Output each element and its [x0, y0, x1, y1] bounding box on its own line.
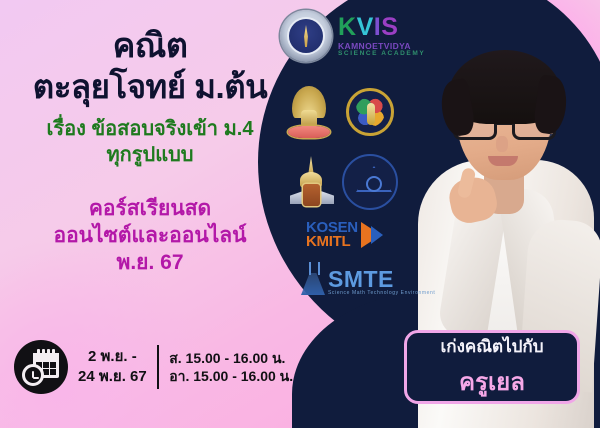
- schedule-row: 2 พ.ย. - 24 พ.ย. 67 ส. 15.00 - 16.00 น. …: [14, 340, 293, 394]
- teacher-badge: เก่งคณิตไปกับ ครูเยล: [404, 330, 580, 404]
- date-line-2: 24 พ.ย. 67: [78, 367, 147, 387]
- time-line-1: ส. 15.00 - 16.00 น.: [169, 349, 293, 367]
- badge-tagline: เก่งคณิตไปกับ: [440, 333, 543, 360]
- hair-side-right: [532, 74, 570, 136]
- headline-line-2: ตะลุยโจทย์ ม.ต้น: [0, 65, 300, 105]
- kvis-letter-s: S: [381, 13, 398, 41]
- nose: [496, 136, 508, 152]
- crest-wing-right: [318, 190, 334, 204]
- kosen-line-2: KMITL: [306, 235, 358, 249]
- time-line-2: อา. 15.00 - 16.00 น.: [169, 367, 293, 385]
- smte-text: SMTE: [328, 269, 435, 290]
- date-range: 2 พ.ย. - 24 พ.ย. 67: [78, 347, 147, 387]
- course-line-1: คอร์สเรียนสด: [0, 195, 300, 222]
- clock-icon: [22, 364, 44, 386]
- kvis-wordmark: KVIS KAMNOETVIDYA SCIENCE ACADEMY: [338, 15, 425, 58]
- badge-teacher-name: ครูเยล: [459, 362, 525, 401]
- subject-line-1: เรื่อง ข้อสอบจริงเข้า ม.4: [0, 117, 300, 143]
- partner-logos: KVIS KAMNOETVIDYA SCIENCE ACADEMY KOSEN …: [280, 6, 460, 306]
- flask-icon: [300, 262, 326, 296]
- promo-poster: KVIS KAMNOETVIDYA SCIENCE ACADEMY KOSEN …: [0, 0, 600, 428]
- smte-subtitle: Science Math Technology Environment: [328, 290, 435, 296]
- schedule-divider: [157, 345, 160, 389]
- kvis-letter-v: V: [357, 13, 374, 41]
- headline-line-1: คณิต: [0, 0, 300, 65]
- triangle-shield-emblem-icon: [342, 154, 398, 210]
- date-line-1: 2 พ.ย. -: [78, 347, 147, 367]
- smte-logo: SMTE Science Math Technology Environment: [300, 262, 435, 296]
- kosen-wordmark: KOSEN KMITL: [306, 221, 358, 250]
- smte-wordmark: SMTE Science Math Technology Environment: [328, 269, 435, 296]
- crest-pedestal: [303, 184, 320, 206]
- kosen-kmitl-logo: KOSEN KMITL: [306, 221, 383, 250]
- kvis-letters: KVIS: [338, 15, 425, 40]
- kosen-arrow-inner-icon: [371, 226, 383, 244]
- colorful-circle-emblem-icon: [346, 88, 394, 136]
- course-line-3: พ.ย. 67: [0, 249, 300, 276]
- kvis-subtitle: KAMNOETVIDYA: [338, 42, 425, 51]
- time-slots: ส. 15.00 - 16.00 น. อา. 15.00 - 16.00 น.: [169, 349, 293, 386]
- course-text: คอร์สเรียนสด ออนไซต์และออนไลน์ พ.ย. 67: [0, 169, 300, 277]
- subject-line-2: ทุกรูปแบบ: [0, 143, 300, 169]
- calendar-clock-icon: [14, 340, 68, 394]
- kvis-logo: KVIS KAMNOETVIDYA SCIENCE ACADEMY: [280, 10, 425, 62]
- kvis-subtitle-2: SCIENCE ACADEMY: [338, 51, 425, 58]
- main-headline: คณิต ตะลุยโจทย์ ม.ต้น: [0, 0, 300, 104]
- course-line-2: ออนไซต์และออนไลน์: [0, 222, 300, 249]
- kvis-letter-k: K: [338, 13, 357, 41]
- subject-text: เรื่อง ข้อสอบจริงเข้า ม.4 ทุกรูปแบบ: [0, 104, 300, 168]
